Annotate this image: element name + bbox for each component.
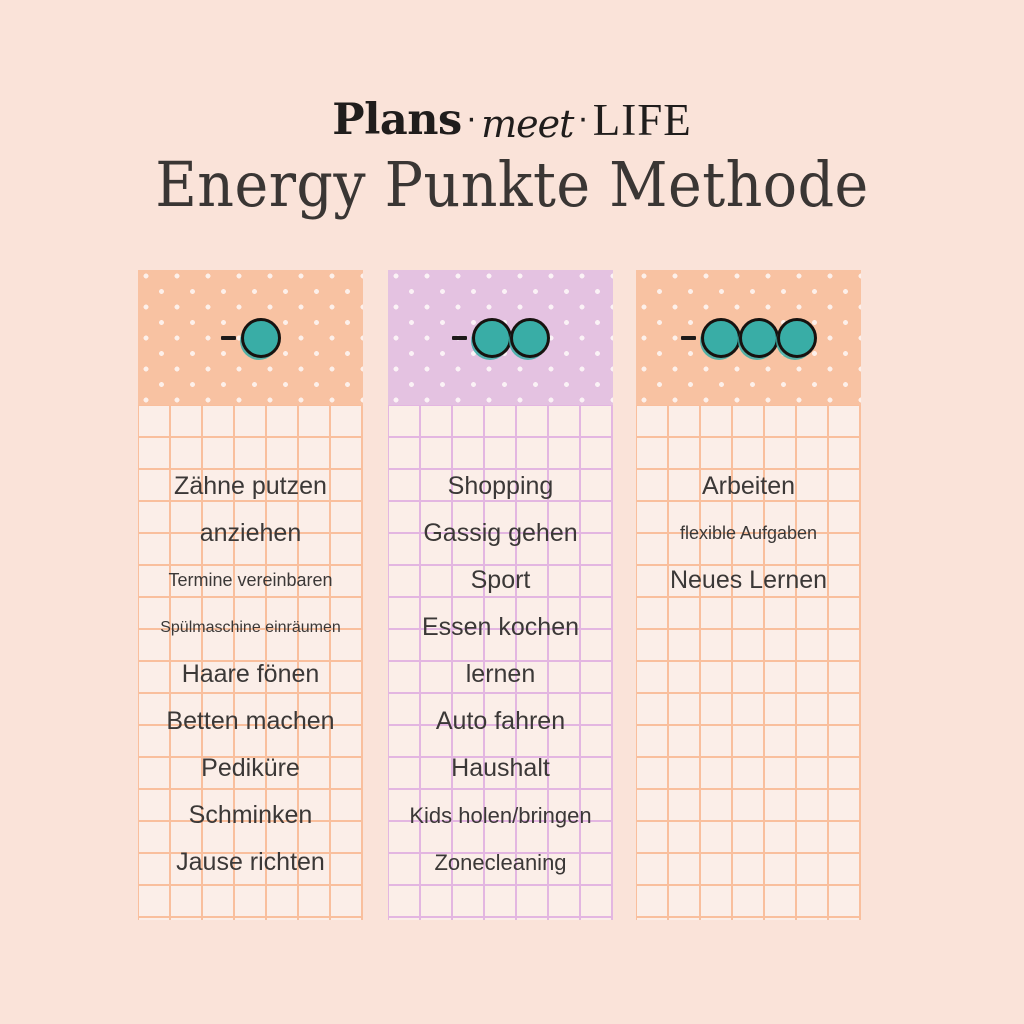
energy-column-one-point: Zähne putzen anziehen Termine vereinbare… (138, 270, 363, 920)
task-list-three-points: Arbeiten flexible Aufgaben Neues Lernen (636, 405, 861, 604)
list-item[interactable]: Zonecleaning (388, 839, 613, 886)
column-body-one-point: Zähne putzen anziehen Termine vereinbare… (138, 405, 363, 920)
list-item[interactable]: Shopping (388, 463, 613, 510)
list-item[interactable]: anziehen (138, 510, 363, 557)
task-list-one-point: Zähne putzen anziehen Termine vereinbare… (138, 405, 363, 886)
dash-icon (221, 336, 236, 340)
brand-word-plans: Plans (332, 95, 462, 145)
energy-pip-icon (510, 318, 550, 358)
energy-pip-icon (777, 318, 817, 358)
dash-icon (452, 336, 467, 340)
list-item[interactable]: Pediküre (138, 745, 363, 792)
brand-separator-dot-2: · (577, 101, 588, 135)
energy-point-board: Zähne putzen anziehen Termine vereinbare… (0, 270, 1024, 930)
list-item[interactable]: Sport (388, 557, 613, 604)
list-item[interactable]: Termine vereinbaren (138, 557, 363, 604)
brand-separator-dot-1: · (466, 101, 477, 135)
list-item[interactable]: Schminken (138, 792, 363, 839)
column-header-two-points (388, 270, 613, 405)
list-item[interactable]: Zähne putzen (138, 463, 363, 510)
list-item[interactable]: lernen (388, 651, 613, 698)
energy-column-two-points: Shopping Gassig gehen Sport Essen kochen… (388, 270, 613, 920)
list-item[interactable]: Neues Lernen (636, 557, 861, 604)
task-list-two-points: Shopping Gassig gehen Sport Essen kochen… (388, 405, 613, 886)
list-item[interactable]: Jause richten (138, 839, 363, 886)
list-item[interactable]: Haare fönen (138, 651, 363, 698)
energy-pip-group-two (388, 270, 613, 405)
brand-lockup: Plans·meet·LIFE (0, 98, 1024, 143)
energy-pip-icon (701, 318, 741, 358)
column-body-two-points: Shopping Gassig gehen Sport Essen kochen… (388, 405, 613, 920)
column-header-three-points (636, 270, 861, 405)
column-header-one-point (138, 270, 363, 405)
list-item[interactable]: Betten machen (138, 698, 363, 745)
list-item[interactable]: flexible Aufgaben (636, 510, 861, 557)
list-item[interactable]: Kids holen/bringen (388, 792, 613, 839)
energy-column-three-points: Arbeiten flexible Aufgaben Neues Lernen (636, 270, 861, 920)
list-item[interactable]: Essen kochen (388, 604, 613, 651)
energy-pip-group-three (636, 270, 861, 405)
brand-word-life: LIFE (593, 95, 692, 145)
list-item[interactable]: Spülmaschine einräumen (138, 604, 363, 651)
brand-word-meet: meet (481, 102, 573, 146)
list-item[interactable]: Haushalt (388, 745, 613, 792)
list-item[interactable]: Arbeiten (636, 463, 861, 510)
column-body-three-points: Arbeiten flexible Aufgaben Neues Lernen (636, 405, 861, 920)
list-item[interactable]: Gassig gehen (388, 510, 613, 557)
energy-pip-group-one (138, 270, 363, 405)
dash-icon (681, 336, 696, 340)
energy-pip-icon (472, 318, 512, 358)
energy-pip-icon (241, 318, 281, 358)
page-title: Energy Punkte Methode (41, 152, 983, 217)
energy-pip-icon (739, 318, 779, 358)
list-item[interactable]: Auto fahren (388, 698, 613, 745)
